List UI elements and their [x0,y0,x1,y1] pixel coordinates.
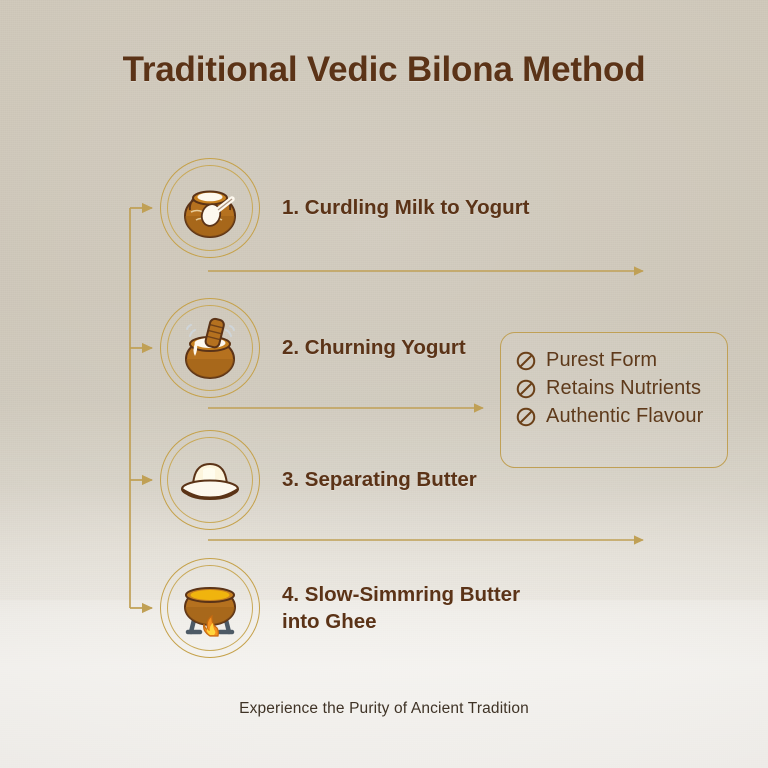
benefit-label: Authentic Flavour [546,405,703,428]
benefit-item: Purest Form [515,349,727,372]
spine-branch-arrows [130,208,152,608]
prohibition-circle-slash-icon [515,406,537,428]
infographic-poster: Traditional Vedic Bilona Method [0,0,768,768]
footer-tagline: Experience the Purity of Ancient Traditi… [0,700,768,718]
benefit-item: Retains Nutrients [515,377,727,400]
step-item-1[interactable]: 1. Curdling Milk to Yogurt [160,158,530,258]
prohibition-circle-slash-icon [515,350,537,372]
butter-in-bowl-icon [174,444,246,516]
step-badge-4 [160,558,260,658]
benefits-card: Purest Form Retains Nutrients Authentic … [500,332,728,468]
prohibition-circle-slash-icon [515,378,537,400]
clay-pot-with-spoon-icon [174,172,246,244]
step-label-2: 2. Churning Yogurt [282,334,466,361]
benefit-item: Authentic Flavour [515,405,727,428]
step-badge-3 [160,430,260,530]
step-label-3: 3. Separating Butter [282,466,477,493]
cauldron-on-fire-icon [174,572,246,644]
benefit-label: Purest Form [546,349,657,372]
step-item-2[interactable]: 2. Churning Yogurt [160,298,466,398]
churning-pot-icon [174,312,246,384]
step-item-3[interactable]: 3. Separating Butter [160,430,477,530]
step-label-1: 1. Curdling Milk to Yogurt [282,194,530,221]
step-label-4: 4. Slow-Simmring Butter into Ghee [282,581,520,635]
step-badge-2 [160,298,260,398]
benefit-label: Retains Nutrients [546,377,701,400]
step-badge-1 [160,158,260,258]
step-item-4[interactable]: 4. Slow-Simmring Butter into Ghee [160,558,520,658]
